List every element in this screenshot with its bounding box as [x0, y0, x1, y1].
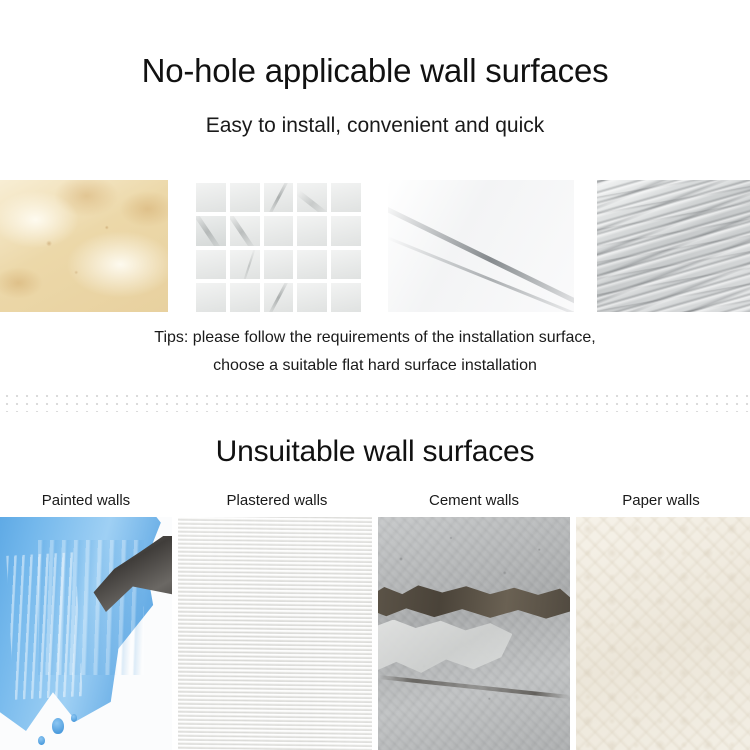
- unsuitable-label-row: Painted walls Plastered walls Cement wal…: [0, 491, 750, 515]
- mosaic-cell: [331, 183, 361, 212]
- mosaic-cell: [196, 250, 226, 279]
- paint-drip: [52, 718, 64, 734]
- grey-slate-texture: [597, 180, 750, 312]
- cement-crack: [378, 675, 569, 699]
- mosaic-cell: [331, 216, 361, 245]
- cement-gash: [378, 582, 570, 622]
- suitable-surface-gallery: [0, 180, 750, 312]
- suitable-tile-mosaic: [193, 180, 361, 312]
- wallpaper-texture: [576, 517, 750, 750]
- mosaic-cell: [230, 250, 260, 279]
- unsuitable-label-paper: Paper walls: [572, 491, 750, 511]
- installation-tip-line-2: choose a suitable flat hard surface inst…: [0, 355, 750, 376]
- suitable-tile-white-marble: [388, 180, 574, 312]
- mosaic-cell: [297, 250, 327, 279]
- mosaic-cell: [230, 283, 260, 312]
- mosaic-cell: [230, 183, 260, 212]
- mosaic-cell: [331, 250, 361, 279]
- page-title: No-hole applicable wall surfaces: [0, 52, 750, 90]
- unsuitable-photo-plastered-wall: [178, 517, 372, 750]
- unsuitable-label-painted: Painted walls: [0, 491, 172, 511]
- white-marble-texture: [388, 180, 574, 312]
- mosaic-cell: [230, 216, 260, 245]
- mosaic-cell: [196, 183, 226, 212]
- unsuitable-label-plastered: Plastered walls: [178, 491, 376, 511]
- paint-ridges: [7, 553, 83, 701]
- suitable-tile-grey-slate: [597, 180, 750, 312]
- mosaic-cell: [264, 183, 294, 212]
- mosaic-cell: [264, 250, 294, 279]
- cement-patch: [378, 620, 512, 681]
- unsuitable-photo-paper-wall: [576, 517, 750, 750]
- paint-drip: [38, 736, 45, 745]
- unsuitable-photo-painted-wall: [0, 517, 172, 750]
- beige-marble-texture: [0, 180, 168, 312]
- mosaic-cell: [264, 216, 294, 245]
- mosaic-cell: [196, 283, 226, 312]
- unsuitable-label-cement: Cement walls: [378, 491, 570, 511]
- section-divider: [0, 390, 750, 412]
- mosaic-cell: [297, 183, 327, 212]
- paint-drip: [71, 714, 77, 722]
- mosaic-cell: [264, 283, 294, 312]
- mosaic-cell: [297, 283, 327, 312]
- unsuitable-surface-gallery: [0, 517, 750, 750]
- product-infographic: No-hole applicable wall surfaces Easy to…: [0, 0, 750, 750]
- plaster-texture: [178, 517, 372, 750]
- mosaic-cell: [331, 283, 361, 312]
- blue-paint-texture: [0, 517, 172, 750]
- suitable-tile-beige-marble: [0, 180, 168, 312]
- mosaic-grid-texture: [193, 180, 361, 312]
- installation-tip-line-1: Tips: please follow the requirements of …: [0, 327, 750, 348]
- cement-texture: [378, 517, 570, 750]
- unsuitable-section-title: Unsuitable wall surfaces: [0, 434, 750, 470]
- mosaic-cell: [196, 216, 226, 245]
- mosaic-cell: [297, 216, 327, 245]
- page-subtitle: Easy to install, convenient and quick: [0, 113, 750, 139]
- unsuitable-photo-cement-wall: [378, 517, 570, 750]
